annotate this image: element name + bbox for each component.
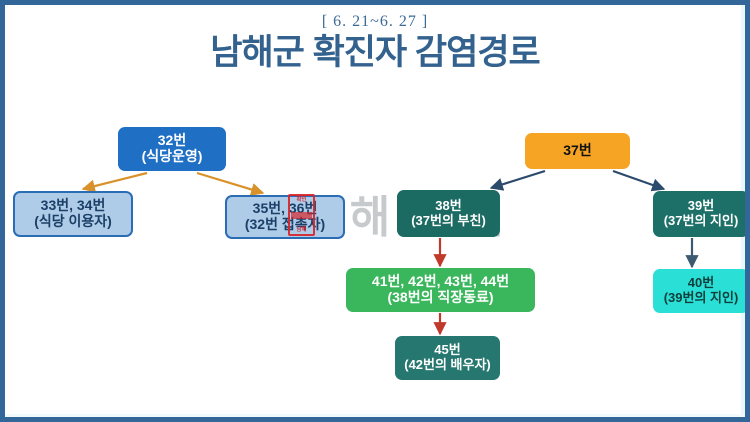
edge-37-to-38 [491,171,545,188]
node-case-33-34-line2: (식당 이용자) [34,214,112,230]
node-case-33-34-line1: 33번, 34번 [41,198,106,214]
page-title: 남해군 확진자 감염경로 [5,33,745,73]
edge-32-to-33 [83,173,147,189]
node-case-38-line2: (37번의 부친) [411,214,486,229]
node-case-41-44[interactable]: 41번, 42번, 43번, 44번 (38번의 직장동료) [346,268,535,312]
slide-header: [ 6. 21~6. 27 ] 남해군 확진자 감염경로 [5,13,745,73]
node-case-45[interactable]: 45번 (42번의 배우자) [395,336,500,380]
edge-32-to-35 [197,173,263,193]
node-case-40[interactable]: 40번 (39번의 지인) [653,269,749,313]
node-case-35-36-line1: 35번, 36번 [253,201,318,217]
node-case-32[interactable]: 32번 (식당운영) [118,127,226,171]
node-case-40-line2: (39번의 지인) [664,291,739,306]
edge-37-to-39 [613,171,664,189]
node-case-32-line1: 32번 [158,133,186,149]
date-range-label: [ 6. 21~6. 27 ] [5,13,745,31]
node-case-39-line2: (37번의 지인) [664,214,739,229]
node-case-38-line1: 38번 [435,199,461,214]
node-case-37-line1: 37번 [563,143,591,159]
node-case-33-34[interactable]: 33번, 34번 (식당 이용자) [13,191,133,237]
infographic-slide: [ 6. 21~6. 27 ] 남해군 확진자 감염경로 남 해 미 래 [0,0,750,422]
node-case-39-line1: 39번 [688,199,714,214]
node-case-38[interactable]: 38번 (37번의 부친) [397,190,500,237]
node-case-37[interactable]: 37번 [525,133,630,169]
node-case-45-line2: (42번의 배우자) [404,358,491,373]
node-case-35-36[interactable]: 35번, 36번 (32번 접촉자) [225,195,345,239]
node-case-45-line1: 45번 [434,343,460,358]
node-case-40-line1: 40번 [688,276,714,291]
node-case-41-44-line1: 41번, 42번, 43번, 44번 [372,274,509,290]
node-case-39[interactable]: 39번 (37번의 지인) [653,191,749,237]
node-case-32-line2: (식당운영) [142,149,203,165]
node-case-41-44-line2: (38번의 직장동료) [387,290,493,306]
node-case-35-36-line2: (32번 접촉자) [245,217,325,233]
